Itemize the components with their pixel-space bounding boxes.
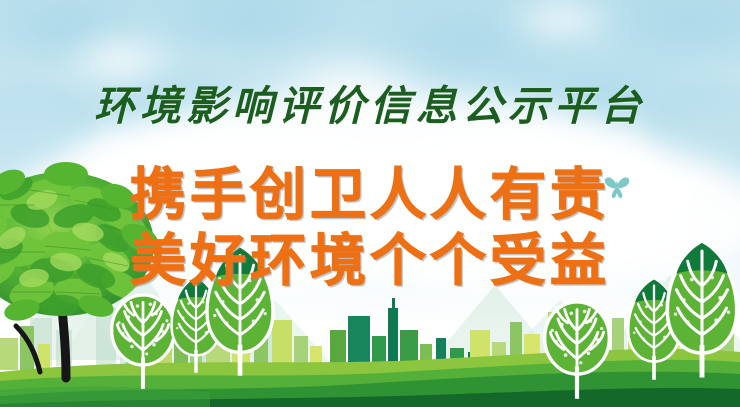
page-title: 环境影响评价信息公示平台 bbox=[0, 72, 740, 132]
slogan-line-2: 美好环境个个受益 bbox=[0, 216, 740, 297]
environmental-banner: 环境影响评价信息公示平台 携手创卫人人有责 美好环境个个受益 bbox=[0, 0, 740, 407]
